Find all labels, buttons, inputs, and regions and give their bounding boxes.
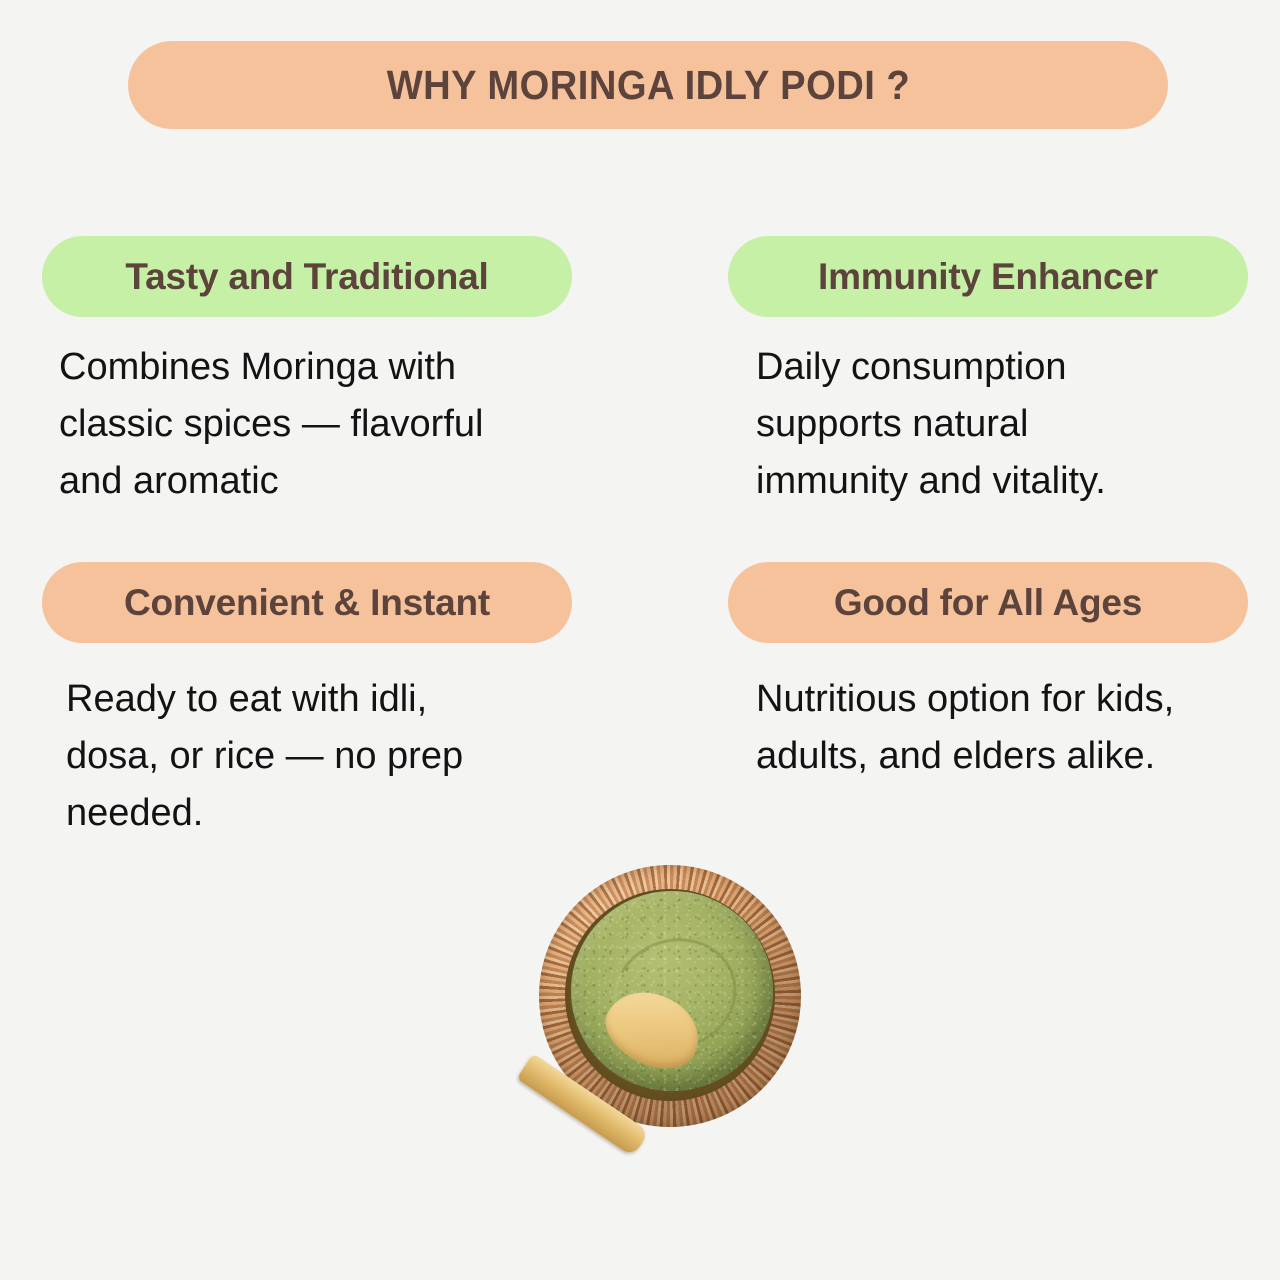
feature-heading-label: Convenient & Instant [124,582,490,624]
infographic-canvas: WHY MORINGA IDLY PODI ? Tasty and Tradit… [0,0,1280,1280]
product-image-moringa-podi-bowl [517,855,817,1165]
feature-card-immunity-enhancer: Immunity Enhancer Daily consumption supp… [728,236,1280,510]
feature-body-text: Ready to eat with idli, dosa, or rice — … [42,671,662,842]
feature-heading-pill: Immunity Enhancer [728,236,1248,317]
feature-card-good-for-all-ages: Good for All Ages Nutritious option for … [728,562,1280,785]
feature-card-convenient-and-instant: Convenient & Instant Ready to eat with i… [42,562,662,842]
feature-heading-label: Good for All Ages [834,582,1142,624]
feature-heading-pill: Convenient & Instant [42,562,572,643]
feature-body-text: Nutritious option for kids, adults, and … [728,671,1280,785]
feature-body-text: Daily consumption supports natural immun… [728,339,1280,510]
feature-heading-pill: Good for All Ages [728,562,1248,643]
feature-heading-label: Tasty and Traditional [125,256,488,298]
feature-heading-label: Immunity Enhancer [818,256,1158,298]
feature-heading-pill: Tasty and Traditional [42,236,572,317]
feature-body-text: Combines Moringa with classic spices — f… [42,339,662,510]
feature-card-tasty-and-traditional: Tasty and Traditional Combines Moringa w… [42,236,662,510]
